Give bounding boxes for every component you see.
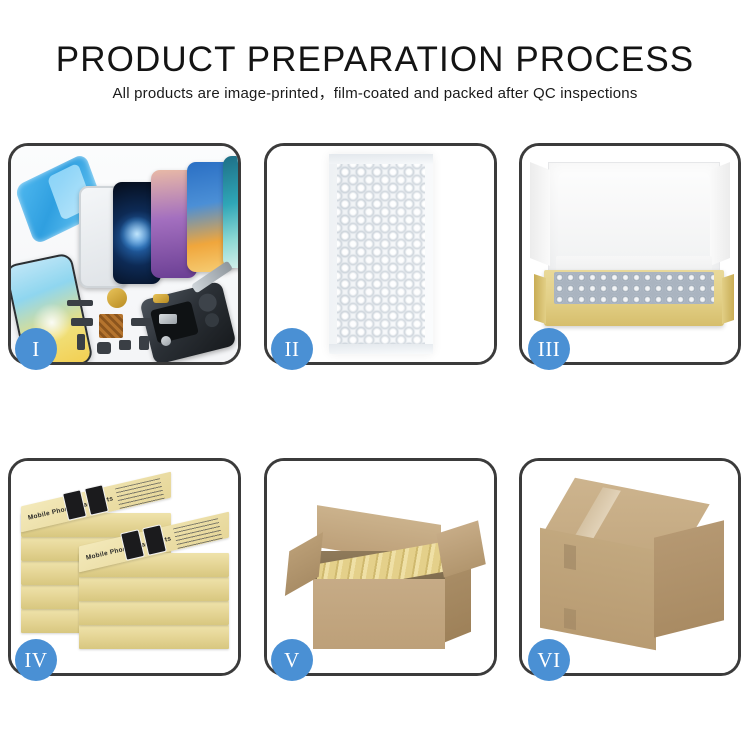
part-button-icon (77, 334, 85, 350)
carton-front-face (540, 528, 656, 651)
part-flex-strip-icon (67, 300, 93, 306)
box-lid-left-flap (530, 162, 550, 266)
sealed-shipping-carton (540, 491, 724, 649)
step-badge-4: IV (15, 639, 57, 681)
step-badge-2: II (271, 328, 313, 370)
step-panel-5: V (264, 458, 497, 676)
step-badge-1: I (15, 328, 57, 370)
retail-box (79, 601, 229, 625)
phone-display-teal-icon (223, 156, 238, 268)
part-shield-icon (159, 314, 177, 324)
open-shipping-carton (299, 505, 469, 645)
step-badge-3: III (528, 328, 570, 370)
part-cable-icon (71, 318, 93, 326)
part-screw-icon (161, 336, 171, 346)
carton-right-flap (436, 520, 486, 577)
carton-seam-lower (564, 608, 576, 630)
part-chip-grid-icon (99, 314, 123, 338)
process-step-grid: I II (0, 0, 750, 750)
step-panel-3: III (519, 143, 741, 365)
bubble-wrapped-contents (554, 272, 714, 304)
step-panel-1: I (8, 143, 241, 365)
retail-box (79, 577, 229, 601)
bubble-texture (337, 164, 425, 344)
part-camera-icon (97, 342, 111, 354)
bubble-pouch (329, 154, 433, 354)
carton-seam-upper (564, 544, 576, 570)
spare-parts-group (67, 288, 203, 362)
pouch-seal-bottom (329, 344, 433, 354)
step-badge-5: V (271, 639, 313, 681)
step-badge-6: VI (528, 639, 570, 681)
part-connector-icon (131, 318, 151, 326)
step-panel-4: Mobile Phone Spare Parts Mobile Phone Sp… (8, 458, 241, 676)
retail-box-stack: Mobile Phone Spare Parts Mobile Phone Sp… (21, 485, 233, 661)
product-preparation-page: PRODUCT PREPARATION PROCESS All products… (0, 0, 750, 750)
retail-box (79, 625, 229, 649)
part-bracket-icon (153, 294, 169, 303)
part-battery-icon (139, 336, 149, 350)
part-module-icon (119, 340, 131, 350)
step-panel-2: II (264, 143, 497, 365)
step-panel-6: VI (519, 458, 741, 676)
carton-right-face (654, 520, 724, 637)
part-speaker-icon (107, 288, 127, 308)
pouch-seal-top (329, 154, 433, 164)
box-lid-right-flap (710, 162, 730, 266)
carton-front-face (313, 579, 445, 649)
